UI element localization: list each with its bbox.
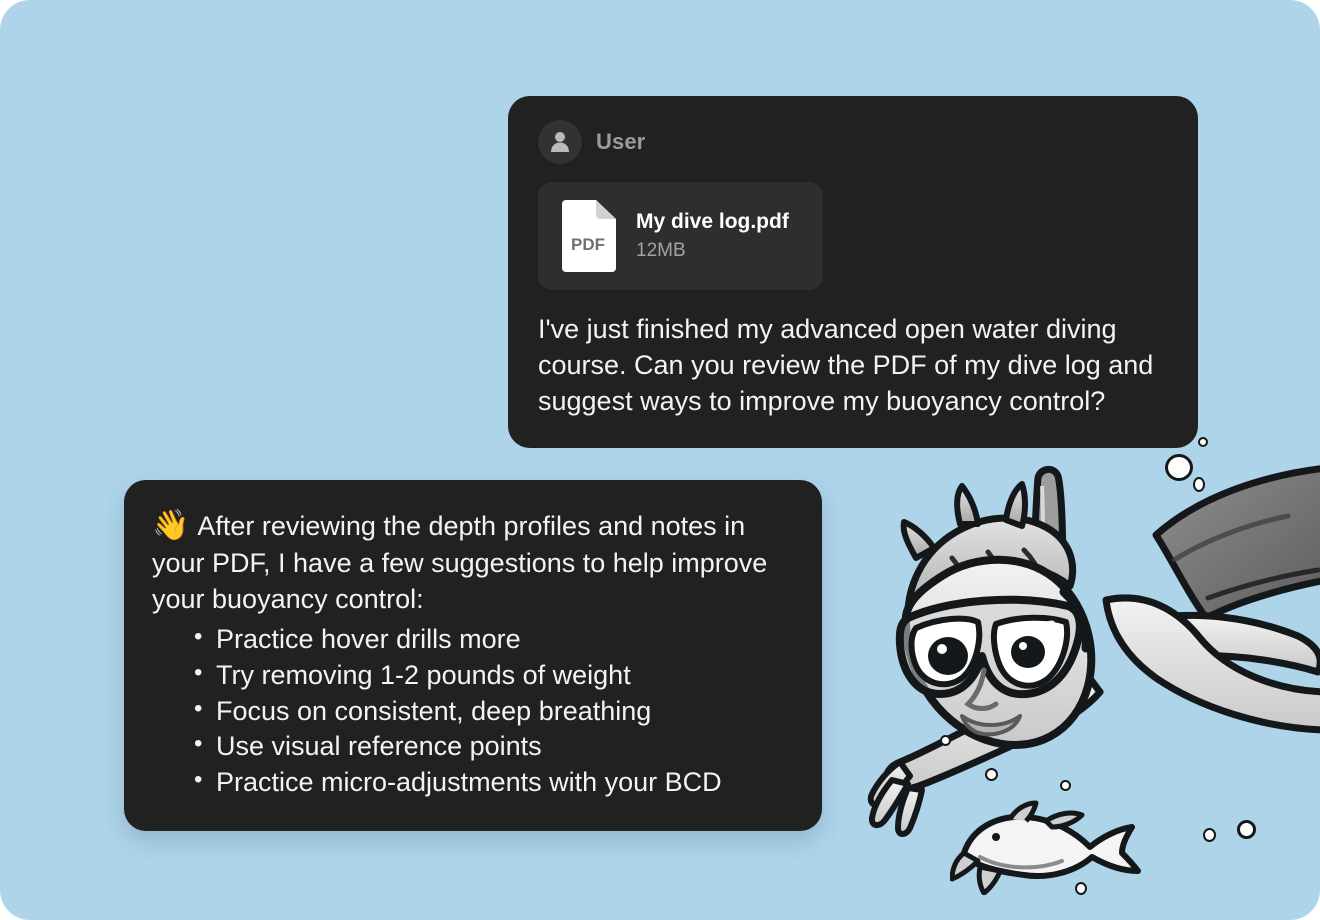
assistant-intro-text: 👋After reviewing the depth profiles and … — [152, 506, 792, 618]
air-bubble — [985, 768, 998, 781]
pdf-file-icon: PDF — [558, 200, 616, 272]
list-item: Focus on consistent, deep breathing — [194, 694, 792, 730]
user-header: User — [538, 120, 1170, 164]
svg-text:PDF: PDF — [571, 235, 605, 254]
list-item: Try removing 1-2 pounds of weight — [194, 658, 792, 694]
attachment-file-name: My dive log.pdf — [636, 210, 789, 234]
user-message-text: I've just finished my advanced open wate… — [538, 312, 1170, 420]
page-canvas: User PDF My dive log.pdf 12MB I've just … — [0, 0, 1320, 920]
person-avatar-icon — [538, 120, 582, 164]
attachment-file-size: 12MB — [636, 240, 789, 262]
attachment-meta: My dive log.pdf 12MB — [636, 210, 789, 262]
air-bubble — [1075, 882, 1087, 895]
air-bubble — [1060, 780, 1071, 791]
air-bubble — [1165, 454, 1193, 481]
list-item: Practice hover drills more — [194, 622, 792, 658]
waving-hand-emoji: 👋 — [152, 509, 189, 542]
assistant-intro-label: After reviewing the depth profiles and n… — [152, 511, 767, 614]
air-bubble — [1237, 820, 1256, 839]
user-message-bubble: User PDF My dive log.pdf 12MB I've just … — [508, 96, 1198, 448]
fish-illustration — [950, 795, 1160, 895]
list-item: Use visual reference points — [194, 729, 792, 765]
air-bubble — [940, 735, 951, 746]
air-bubble — [1193, 477, 1205, 492]
air-bubble — [1198, 437, 1208, 447]
suggestion-list: Practice hover drills more Try removing … — [152, 622, 792, 802]
pdf-attachment-card[interactable]: PDF My dive log.pdf 12MB — [538, 182, 823, 290]
air-bubble — [1203, 828, 1216, 842]
assistant-message-bubble: 👋After reviewing the depth profiles and … — [124, 480, 822, 831]
snorkeler-diver-illustration — [856, 440, 1320, 920]
list-item: Practice micro-adjustments with your BCD — [194, 765, 792, 801]
user-name-label: User — [596, 129, 645, 155]
